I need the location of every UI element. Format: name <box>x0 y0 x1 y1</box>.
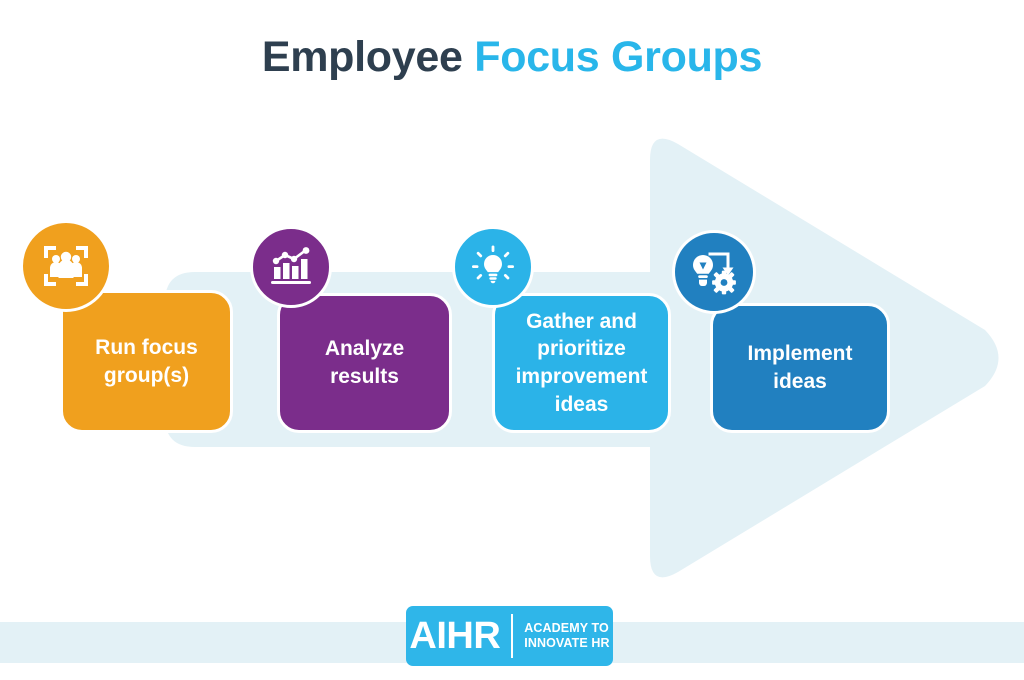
step-card-label: Run focus group(s) <box>63 334 230 389</box>
step-icon-badge-3[interactable] <box>452 226 534 308</box>
step-card-label: Analyze results <box>280 335 449 390</box>
lightbulb-gear-process-icon <box>690 249 738 295</box>
step-card-implement-ideas[interactable]: Implement ideas <box>710 303 890 433</box>
logo-tagline: ACADEMY TO INNOVATE HR <box>513 621 609 651</box>
lightbulb-idea-icon <box>470 244 516 290</box>
step-card-gather-prioritize-ideas[interactable]: Gather and prioritize improvement ideas <box>492 293 671 433</box>
logo-tagline-line1: ACADEMY TO <box>524 621 609 635</box>
step-icon-badge-1[interactable] <box>20 220 112 312</box>
step-card-run-focus-groups[interactable]: Run focus group(s) <box>60 290 233 433</box>
infographic-canvas: Employee Focus Groups Run focus group(s) <box>0 0 1024 680</box>
logo-wordmark: AIHR <box>409 617 511 655</box>
step-icon-badge-4[interactable] <box>672 230 756 314</box>
logo-tagline-line2: INNOVATE HR <box>524 636 609 650</box>
aihr-logo: AIHR ACADEMY TO INNOVATE HR <box>406 606 613 666</box>
step-card-analyze-results[interactable]: Analyze results <box>277 293 452 433</box>
step-card-label: Gather and prioritize improvement ideas <box>495 308 668 419</box>
focus-group-people-icon <box>42 244 90 288</box>
step-icon-badge-2[interactable] <box>250 226 332 308</box>
step-card-label: Implement ideas <box>713 340 887 395</box>
bar-chart-trend-icon <box>269 247 313 287</box>
